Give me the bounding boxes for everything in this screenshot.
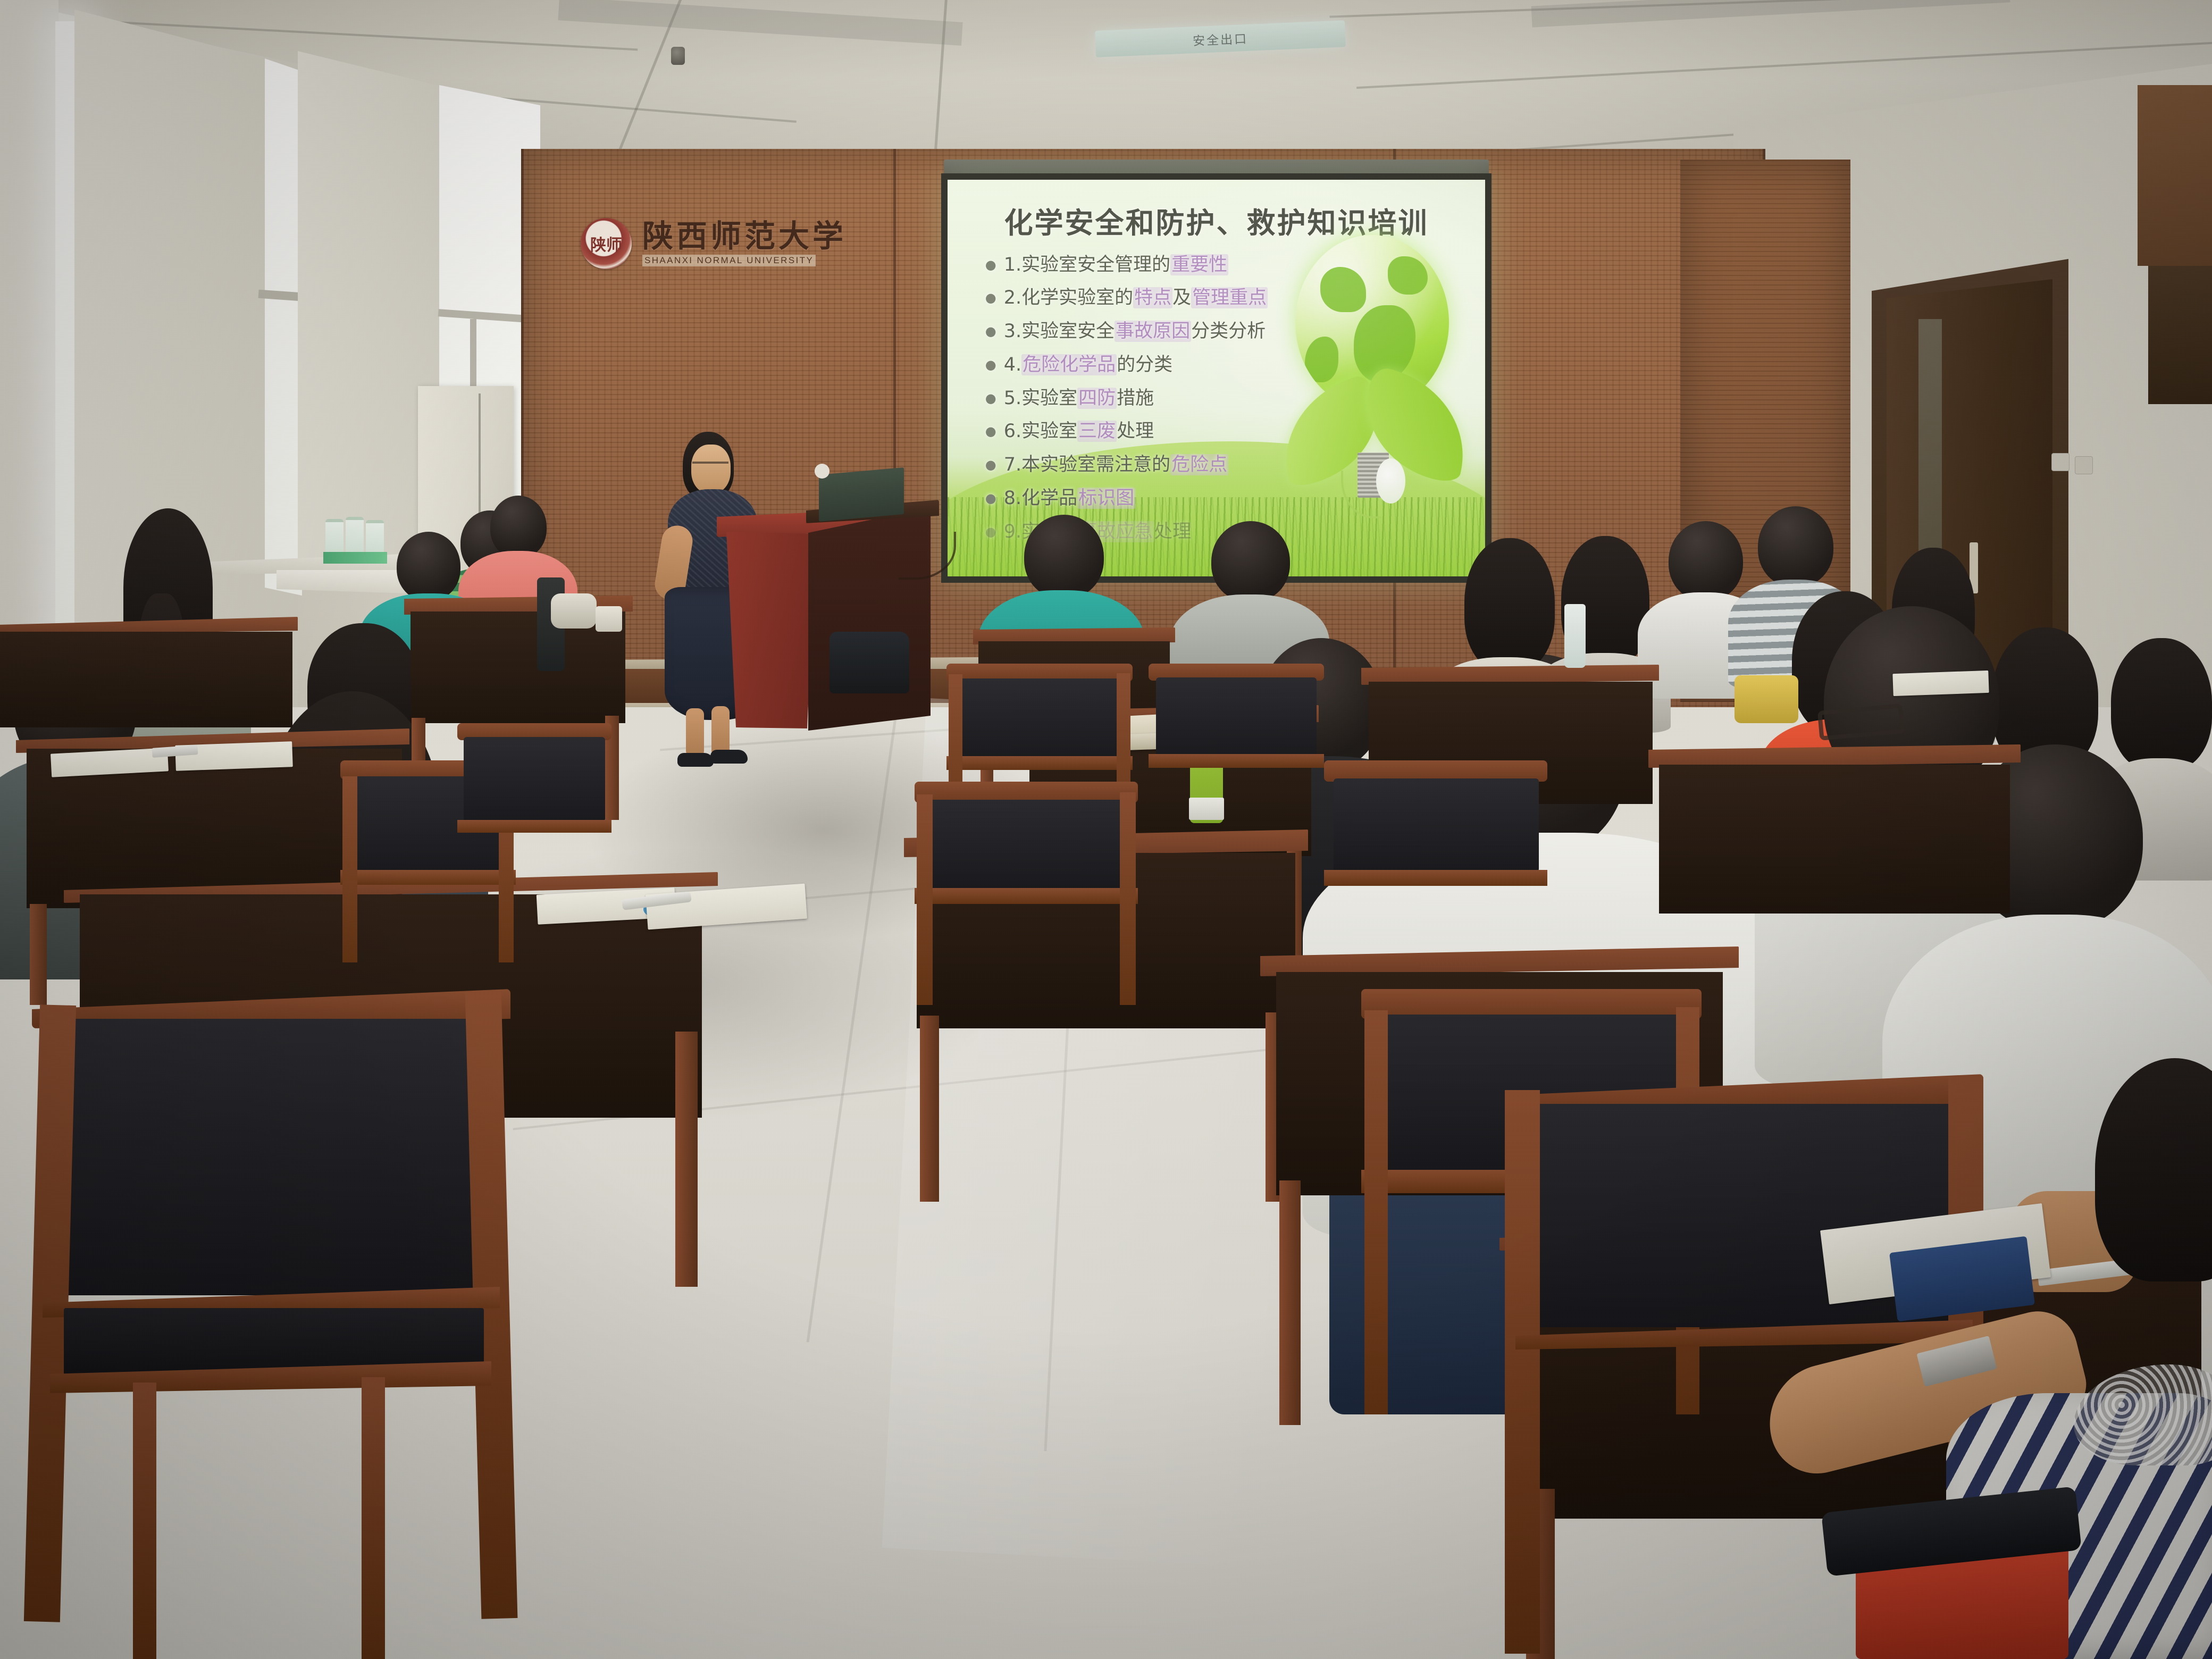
bullet-dot-icon: ● (985, 255, 996, 274)
empty-chair-foreground[interactable] (32, 989, 510, 1659)
corner-cabinet-lower (2148, 266, 2212, 404)
slide-bullet-4: ● 4.危险化学品的分类 (985, 355, 1319, 375)
cup (596, 606, 622, 632)
eco-globe-illustration (1281, 235, 1464, 537)
wall-pillar-1 (0, 0, 58, 670)
presenter-shoe-left (677, 753, 714, 767)
university-seal-icon: 陕师 (581, 218, 632, 269)
bullet-dot-icon: ● (985, 389, 996, 408)
bullet-dot-icon: ● (985, 288, 996, 307)
classroom-photo-scene: 安全出口 陕师 陕西师范大学 SHAANXI NORMAL UNIVERSITY (0, 0, 2212, 1659)
podium-front (726, 532, 816, 728)
slide-bullet-5: ● 5.实验室四防措施 (985, 389, 1319, 408)
yellow-bag-back (1735, 675, 1798, 723)
laptop[interactable] (819, 467, 904, 522)
writer-lace-shoulder (2074, 1364, 2212, 1465)
paper-right-back (1892, 671, 1989, 696)
bullet-dot-icon: ● (985, 455, 996, 474)
desk-left-1 (0, 617, 298, 734)
university-sign: 陕师 陕西师范大学 SHAANXI NORMAL UNIVERSITY (581, 208, 868, 279)
slide-bullet-8: ● 8.化学品标识图 (985, 489, 1319, 508)
university-name-en: SHAANXI NORMAL UNIVERSITY (642, 255, 816, 266)
sprinkler-icon (671, 47, 685, 65)
window-1 (55, 21, 77, 675)
microphone-icon (815, 464, 829, 479)
light-switch-1[interactable] (2051, 453, 2069, 471)
wire-icon (1341, 471, 1381, 519)
bullet-dot-icon: ● (985, 355, 996, 374)
ceiling-exit-sign: 安全出口 (1095, 20, 1346, 57)
chair-center-2[interactable] (1149, 664, 1324, 844)
slide-bullet-7: ● 7.本实验室需注意的危险点 (985, 455, 1319, 475)
chair-left-2[interactable] (457, 723, 611, 904)
slide-bullet-3: ● 3.实验室安全事故原因分类分析 (985, 322, 1319, 341)
light-switch-2[interactable] (2075, 456, 2093, 474)
slide-bullet-list: ● 1.实验室安全管理的重要性 ● 2.化学实验室的特点及管理重点 ● 3.实验… (985, 255, 1319, 556)
slide-bullet-2: ● 2.化学实验室的特点及管理重点 (985, 288, 1319, 308)
presenter-shoe-right (710, 750, 748, 764)
bullet-dot-icon: ● (985, 489, 996, 508)
bullet-dot-icon: ● (985, 422, 996, 441)
chair-center-3[interactable] (915, 782, 1138, 1005)
slide-bullet-1: ● 1.实验室安全管理的重要性 (985, 255, 1319, 275)
corner-cabinet (2138, 85, 2212, 266)
window-2 (265, 58, 302, 596)
university-name-cn: 陕西师范大学 (642, 221, 847, 252)
podium-bag (829, 632, 909, 693)
slide-bullet-6: ● 6.实验室三废处理 (985, 422, 1319, 441)
teapot (551, 593, 597, 629)
chair-right-1[interactable] (1324, 760, 1547, 994)
presenter-face (691, 445, 731, 493)
glasses-icon (692, 462, 728, 469)
water-bottle-right (1564, 604, 1586, 668)
bullet-dot-icon: ● (985, 322, 996, 341)
presenter-leg-left (686, 708, 704, 757)
